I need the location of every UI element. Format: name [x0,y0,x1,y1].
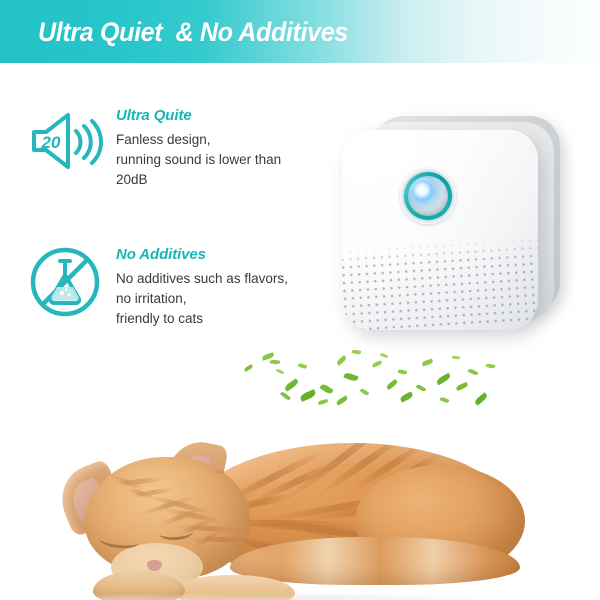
leaf-shape [319,383,333,395]
leaf-shape [244,364,254,372]
leaf-shape [360,388,370,397]
feature-text-ultra-quiet: Ultra Quite Fanless design, running soun… [116,104,281,190]
leaf-shape [468,368,479,376]
header-banner: Ultra Quiet & No Additives [0,0,600,63]
cat-tail [230,537,520,585]
leaf-shape [352,349,362,355]
cat-bottom-fade [55,593,535,600]
leaf-shape [298,362,308,369]
leaf-shape [440,396,450,403]
leaf-shape [416,384,427,393]
leaf-shape [486,363,496,369]
leaf-shape [336,355,348,366]
sleeping-orange-tabby-cat [55,425,535,600]
leaf-shape [422,359,434,367]
leaf-shape [452,355,460,360]
leaf-shape [399,391,413,402]
page-title: Ultra Quiet & No Additives [38,16,348,48]
product-feature-page: Ultra Quiet & No Additives 20 Ultra Quit… [0,0,600,600]
floating-green-leaves [240,338,500,428]
leaf-shape [270,359,280,364]
feature-heading: No Additives [116,245,288,264]
leaf-shape [436,373,452,386]
device-front-panel [342,130,538,330]
leaf-shape [318,399,329,405]
leaf-shape [299,389,316,402]
speaker-volume-icon: 20 [26,104,104,182]
leaf-shape [343,372,358,382]
leaf-shape [280,391,291,401]
feature-block-no-additives: No Additives No additives such as flavor… [26,243,288,329]
leaf-shape [372,360,383,367]
feature-body: No additives such as flavors, no irritat… [116,269,288,329]
leaf-shape [398,369,408,376]
power-indicator-button[interactable] [400,168,456,224]
power-button-glow [412,180,434,202]
fur-stripe [189,537,250,542]
air-purifier-device [338,112,568,347]
feature-body: Fanless design, running sound is lower t… [116,130,281,190]
leaf-shape [456,382,469,391]
leaf-shape [276,368,284,375]
feature-block-ultra-quiet: 20 Ultra Quite Fanless design, running s… [26,104,281,190]
feature-heading: Ultra Quite [116,106,281,125]
speaker-badge-value: 20 [41,133,61,152]
leaf-shape [336,395,349,405]
leaf-shape [380,352,389,358]
leaf-shape [284,378,300,391]
feature-text-no-additives: No Additives No additives such as flavor… [116,243,288,329]
leaf-shape [474,392,489,405]
leaf-shape [386,379,399,390]
no-additives-flask-icon [26,243,104,321]
perforated-vent-panel [342,238,538,330]
